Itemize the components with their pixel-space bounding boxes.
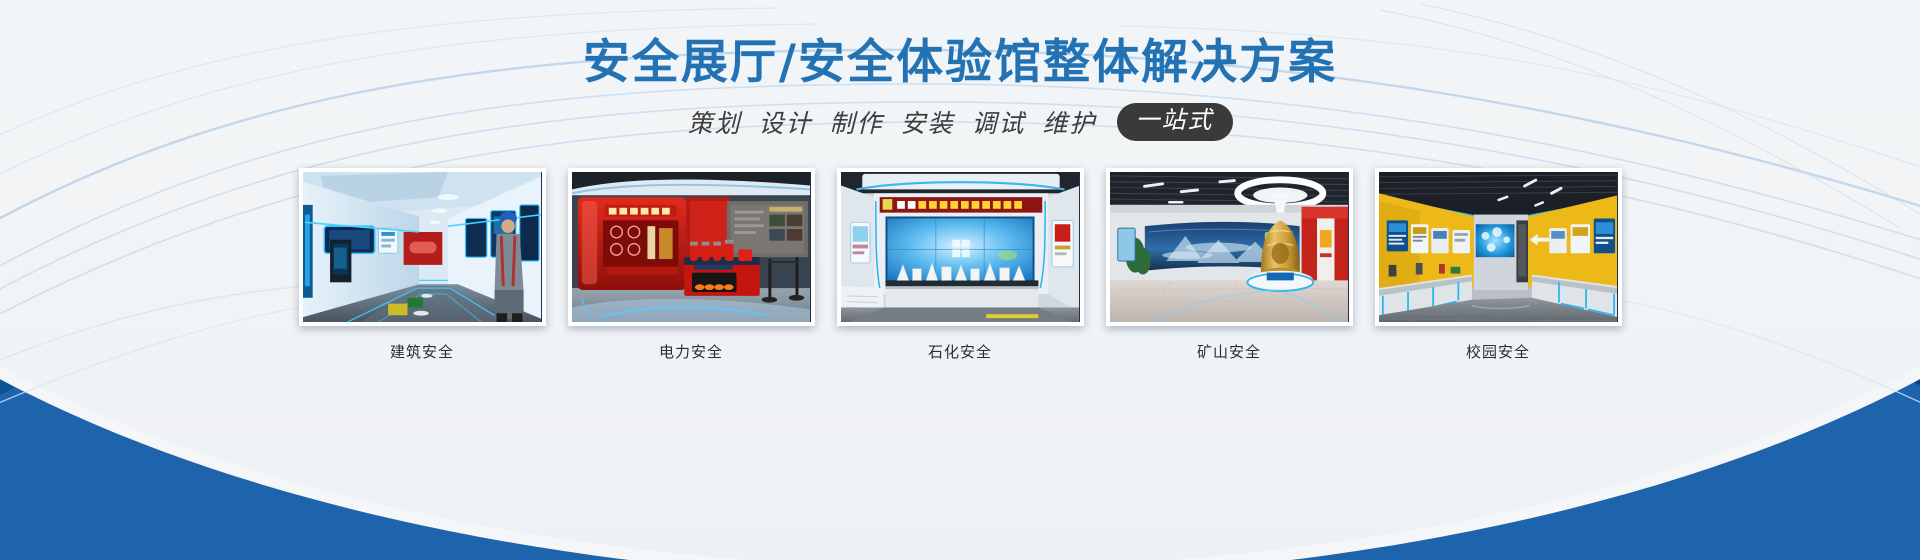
- scene-campus-safety: [1379, 172, 1618, 325]
- thumbnail-card-row: 建筑安全: [0, 168, 1920, 362]
- subtitle-word-maintenance: 维护: [1043, 104, 1097, 140]
- card-mine-safety[interactable]: 矿山安全: [1106, 168, 1353, 362]
- card-campus-safety[interactable]: 校园安全: [1375, 168, 1622, 362]
- card-caption-power-safety: 电力安全: [568, 341, 815, 362]
- scene-power-safety: [572, 172, 811, 325]
- scene-petrochemical-safety: [841, 172, 1080, 325]
- card-caption-campus-safety: 校园安全: [1375, 341, 1622, 362]
- thumbnail-image-power-safety[interactable]: [568, 168, 815, 326]
- thumbnail-image-mine-safety[interactable]: [1106, 168, 1353, 326]
- card-petrochemical-safety[interactable]: 石化安全: [837, 168, 1084, 362]
- thumbnail-image-campus-safety[interactable]: [1375, 168, 1622, 326]
- thumbnail-image-building-safety[interactable]: [299, 168, 546, 326]
- promo-banner: 安全展厅/安全体验馆整体解决方案 策划 设计 制作 安装 调试 维护 一站式: [0, 0, 1920, 560]
- scene-building-safety: [303, 172, 542, 325]
- subtitle-word-installation: 安装: [901, 104, 955, 140]
- scene-mine-safety: [1110, 172, 1349, 325]
- card-building-safety[interactable]: 建筑安全: [299, 168, 546, 362]
- subtitle-word-debugging: 调试: [972, 104, 1026, 140]
- card-caption-mine-safety: 矿山安全: [1106, 341, 1353, 362]
- card-caption-petrochemical-safety: 石化安全: [837, 341, 1084, 362]
- thumbnail-image-petrochemical-safety[interactable]: [837, 168, 1084, 326]
- subtitle-word-production: 制作: [829, 104, 883, 140]
- subtitle-row: 策划 设计 制作 安装 调试 维护 一站式: [0, 103, 1920, 141]
- subtitle-word-design: 设计: [758, 104, 812, 140]
- one-stop-badge: 一站式: [1117, 103, 1233, 141]
- subtitle-word-planning: 策划: [687, 104, 741, 140]
- page-title: 安全展厅/安全体验馆整体解决方案: [0, 23, 1920, 92]
- card-caption-building-safety: 建筑安全: [299, 341, 546, 362]
- card-power-safety[interactable]: 电力安全: [568, 168, 815, 362]
